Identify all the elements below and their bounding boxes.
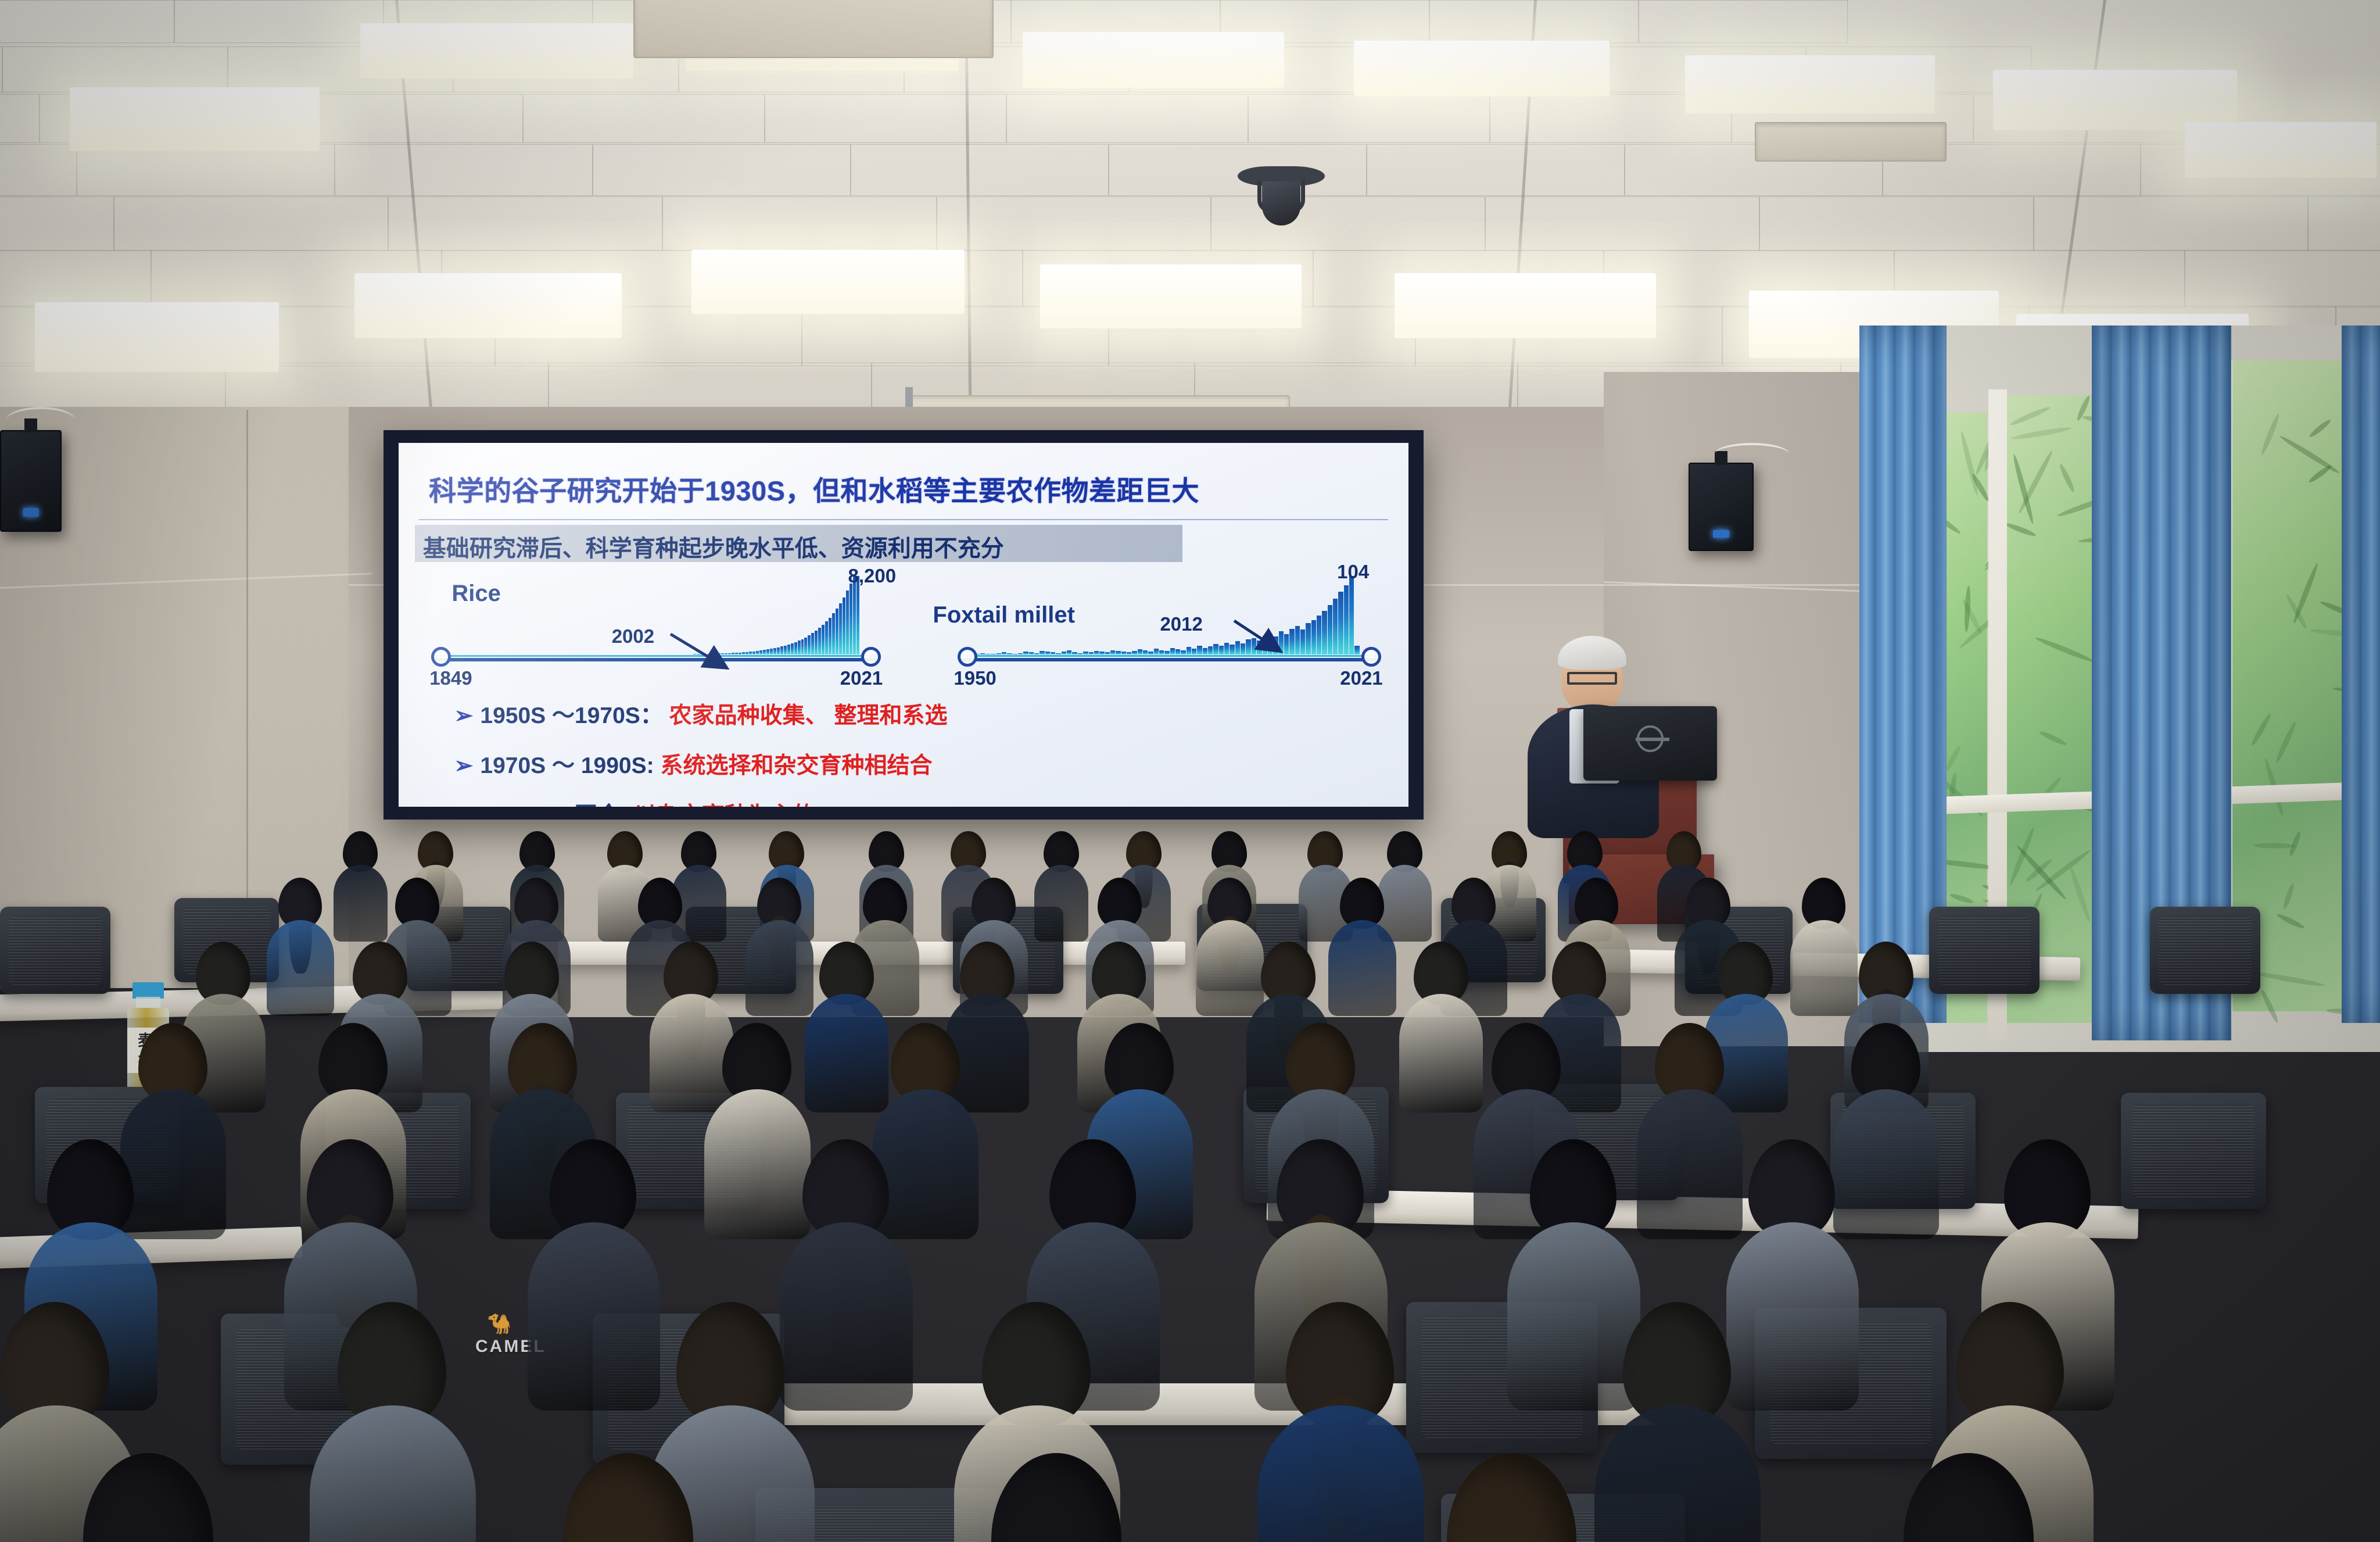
audience-torso (1034, 865, 1088, 942)
chair-mesh (2132, 1104, 2254, 1197)
chair-back (0, 907, 110, 994)
chair-mesh (9, 915, 102, 985)
audience-member (334, 831, 387, 939)
audience-torso (1594, 1405, 1761, 1542)
audience-torso (745, 920, 813, 1016)
audience-member (528, 1139, 659, 1403)
chair-back (2150, 907, 2260, 994)
lecture-hall-scene: 科学的谷子研究开始于1930S，但和水稻等主要农作物差距巨大 基础研究滞后、科学… (0, 0, 2380, 1542)
audience-member (958, 1453, 1155, 1542)
audience-head (1904, 1453, 2034, 1542)
audience-torso (528, 1222, 661, 1411)
chair-back (2121, 1093, 2266, 1209)
audience-head (563, 1453, 693, 1542)
audience-head (991, 1453, 1121, 1542)
audience-member (1594, 1302, 1759, 1542)
audience-member (745, 878, 813, 1012)
audience-torso (267, 920, 335, 1016)
audience-member (1328, 878, 1396, 1012)
audience-head (1447, 1453, 1577, 1542)
audience-member (1399, 942, 1482, 1108)
audience-member (1870, 1453, 2067, 1542)
audience-torso (1328, 920, 1396, 1016)
chair-back (1929, 907, 2040, 994)
audience-torso (1257, 1405, 1424, 1542)
chair-mesh (2159, 915, 2252, 985)
audience-member (1413, 1453, 1610, 1542)
audience-torso (334, 865, 388, 942)
audience-member (1034, 831, 1088, 939)
audience-torso (1399, 994, 1483, 1112)
chair-mesh (1938, 915, 2031, 985)
audience-member (267, 878, 334, 1012)
audience-member (1257, 1302, 1422, 1542)
audience-torso (310, 1405, 476, 1542)
audience-member (49, 1453, 247, 1542)
audience-member (529, 1453, 727, 1542)
audience-head (83, 1453, 213, 1542)
audience-member (310, 1302, 475, 1542)
audience (0, 0, 2380, 1542)
